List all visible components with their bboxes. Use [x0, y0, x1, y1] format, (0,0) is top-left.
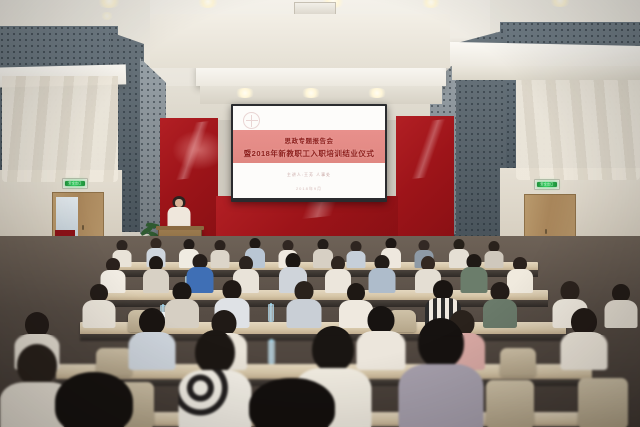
audience-person	[604, 284, 638, 326]
curtain-right	[516, 80, 640, 180]
chair[interactable]	[578, 378, 628, 427]
soffit-downlight	[366, 88, 388, 98]
door-handle-right[interactable]	[545, 229, 547, 234]
audience-person	[482, 282, 517, 326]
head	[139, 308, 165, 335]
exit-sign-left: 安全出口	[62, 178, 88, 189]
exit-sign-lamp-right: 安全出口	[537, 182, 557, 188]
slide-subtitle: 主讲人:王芳 人事处	[233, 172, 385, 178]
body	[605, 300, 638, 328]
audience-person	[398, 318, 484, 427]
audience-person-foreground	[236, 378, 348, 427]
exit-sign-label-left: 安全出口	[68, 181, 81, 185]
audience-person	[560, 308, 608, 368]
exit-sign-label-right: 安全出口	[540, 182, 553, 186]
chair[interactable]	[500, 348, 536, 376]
head	[312, 326, 354, 372]
head	[418, 318, 464, 368]
backdrop-light-glow	[172, 130, 226, 170]
curtain-left	[2, 76, 118, 182]
head	[433, 280, 453, 300]
chair[interactable]	[486, 380, 534, 427]
slide-title-line-2: 暨2018年新教职工入职培训结业仪式	[244, 148, 375, 159]
soffit-downlight	[300, 88, 322, 98]
audience-person	[128, 308, 176, 368]
auditorium-photo: 安全出口 安全出口 思政专题报告会 暨2018年新教职工入职培训结业仪式 主讲人…	[0, 0, 640, 427]
body	[561, 332, 608, 370]
head	[571, 308, 597, 335]
body	[287, 299, 322, 328]
slide-crest-icon	[243, 112, 260, 129]
head	[55, 372, 133, 427]
water-bottle[interactable]	[268, 340, 275, 364]
downlight	[96, 0, 122, 8]
downlight	[100, 12, 114, 20]
speaker-face	[175, 199, 183, 207]
slide-footnote: 2018年9月	[233, 186, 385, 192]
stage-backdrop-center-strip	[216, 196, 398, 238]
audience-person-foreground	[42, 372, 146, 427]
door-handle-left[interactable]	[82, 225, 84, 230]
audience-person	[286, 281, 322, 326]
slide-title-line-1: 思政专题报告会	[285, 135, 334, 145]
stage-backdrop-right	[396, 116, 454, 238]
projection-screen: 思政专题报告会 暨2018年新教职工入职培训结业仪式 主讲人:王芳 人事处 20…	[233, 106, 385, 198]
slide-title-band: 思政专题报告会 暨2018年新教职工入职培训结业仪式	[233, 130, 385, 163]
head	[295, 281, 314, 301]
podium-top-surface	[156, 226, 204, 230]
head	[195, 330, 235, 374]
head	[249, 378, 335, 427]
body	[129, 332, 176, 370]
audience-person	[82, 284, 116, 326]
head	[561, 281, 580, 301]
water-bottle[interactable]	[268, 304, 274, 322]
body	[399, 364, 484, 427]
soffit-downlight	[234, 88, 256, 98]
exit-sign-right: 安全出口	[534, 179, 560, 190]
head	[223, 280, 242, 300]
exit-sign-lamp-left: 安全出口	[65, 181, 85, 187]
downlight	[548, 0, 572, 7]
body	[483, 299, 517, 328]
upper-rear-wall	[150, 14, 450, 68]
soffit-right-underside	[452, 66, 640, 80]
body	[83, 300, 116, 328]
